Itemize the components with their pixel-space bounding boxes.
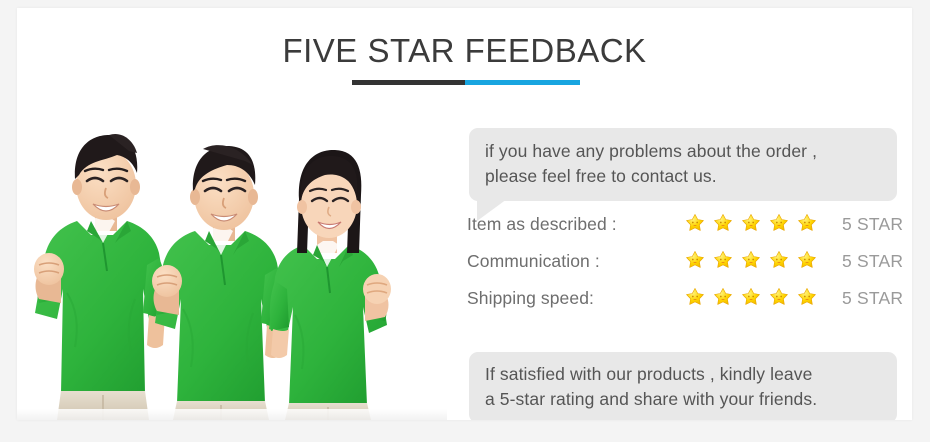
smiling-star-icon — [685, 287, 705, 307]
smiling-star-icon — [685, 213, 705, 233]
smiling-star-icon — [685, 250, 705, 270]
smiling-star-icon — [797, 213, 817, 233]
feedback-details: if you have any problems about the order… — [452, 103, 912, 420]
title-underline-dark-segment — [352, 80, 465, 85]
smiling-star-icon — [741, 287, 761, 307]
rating-value: 5 STAR — [842, 251, 903, 272]
star-rating — [685, 287, 817, 307]
review-request-line-2: a 5-star rating and share with your frie… — [485, 387, 881, 412]
star-rating — [685, 250, 817, 270]
star-rating — [685, 213, 817, 233]
rating-value: 5 STAR — [842, 288, 903, 309]
review-request-note: If satisfied with our products , kindly … — [469, 352, 897, 420]
smiling-star-icon — [741, 250, 761, 270]
rating-row: Item as described : 5 STAR — [465, 211, 905, 248]
smiling-star-icon — [769, 250, 789, 270]
smiling-star-icon — [713, 213, 733, 233]
rating-label: Communication : — [467, 251, 600, 272]
rating-label: Shipping speed: — [467, 288, 594, 309]
feedback-card: FIVE STAR FEEDBACK — [17, 8, 912, 420]
contact-message-line-1: if you have any problems about the order… — [485, 139, 881, 164]
smiling-star-icon — [769, 213, 789, 233]
team-photo — [17, 103, 447, 420]
rating-value: 5 STAR — [842, 214, 903, 235]
smiling-star-icon — [713, 250, 733, 270]
rating-row: Shipping speed: 5 STAR — [465, 285, 905, 322]
team-photo-illustration — [17, 103, 447, 420]
smiling-star-icon — [713, 287, 733, 307]
title-underline-blue-segment — [465, 80, 580, 85]
contact-message-line-2: please feel free to contact us. — [485, 164, 881, 189]
ratings-list: Item as described : 5 STAR Communication… — [465, 211, 905, 322]
smiling-star-icon — [797, 287, 817, 307]
title-underline — [352, 80, 580, 85]
rating-label: Item as described : — [467, 214, 617, 235]
smiling-star-icon — [769, 287, 789, 307]
page-title: FIVE STAR FEEDBACK — [17, 32, 912, 70]
review-request-line-1: If satisfied with our products , kindly … — [485, 362, 881, 387]
feedback-banner: FIVE STAR FEEDBACK — [0, 0, 930, 442]
smiling-star-icon — [797, 250, 817, 270]
smiling-star-icon — [741, 213, 761, 233]
rating-row: Communication : 5 STAR — [465, 248, 905, 285]
contact-message-bubble: if you have any problems about the order… — [469, 128, 897, 201]
